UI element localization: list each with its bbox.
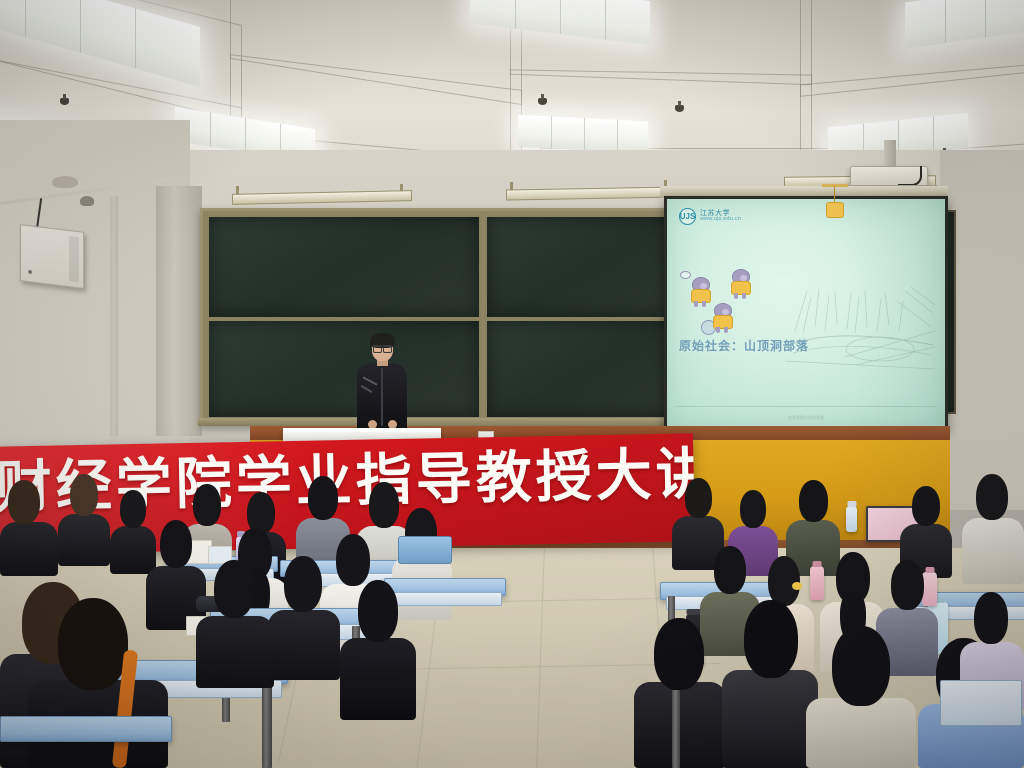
student [806, 626, 916, 768]
ceiling-light [518, 115, 648, 154]
student [962, 474, 1024, 584]
chalk-ledge [198, 418, 704, 426]
cartoon-caveman-2 [729, 269, 751, 299]
glasses-icon [373, 345, 392, 351]
student [722, 600, 818, 768]
blackboard [200, 208, 706, 426]
sprinkler-icon [60, 98, 69, 105]
lecture-hall-photo: ◼ UJS 江苏大学 www.ujs.edu.cn [0, 0, 1024, 768]
wall-pillar [156, 186, 202, 436]
chair-back [398, 536, 452, 564]
student [0, 480, 58, 576]
student [196, 560, 274, 688]
speaker-grill [69, 236, 79, 282]
student [28, 598, 168, 768]
lectern-top-edge [283, 428, 441, 432]
ujs-logo-mark: UJS [679, 208, 696, 225]
blackboard-panel-top-left [207, 215, 481, 319]
projection-screen: UJS 江苏大学 www.ujs.edu.cn [664, 196, 948, 430]
blackboard-panel-bottom-left [207, 319, 481, 419]
desk-shelf [940, 680, 1022, 726]
student [340, 580, 416, 720]
slide-footer-note: 信息管理与信息系统 [667, 415, 945, 421]
sprinkler-icon [675, 105, 684, 112]
university-url: www.ujs.edu.cn [700, 217, 741, 223]
speaker-brand-label: ◼ [28, 269, 32, 276]
wall-pillar [110, 196, 118, 436]
sprinkler-icon [538, 98, 547, 105]
university-logo: UJS 江苏大学 www.ujs.edu.cn [679, 208, 741, 225]
hair-tie [792, 582, 802, 590]
slide-sketch-illustration [785, 261, 935, 381]
student [634, 618, 726, 768]
desk-leg [672, 690, 680, 768]
student [58, 474, 110, 566]
lecturer [352, 336, 412, 432]
dome-camera-icon [52, 176, 78, 188]
slide-title: 原始社会：山顶洞部落 [679, 337, 809, 354]
desk-leg [262, 684, 272, 768]
dome-camera-icon [80, 196, 94, 206]
slide-divider [675, 406, 937, 407]
student [268, 556, 340, 680]
projector-cable [898, 166, 922, 186]
student-desk [0, 716, 172, 742]
water-bottle [846, 506, 857, 532]
cartoon-caveman-1 [689, 277, 711, 307]
hanging-card [822, 186, 848, 220]
wall-speaker: ◼ [20, 224, 84, 289]
projected-slide: UJS 江苏大学 www.ujs.edu.cn [667, 199, 945, 427]
cartoon-caveman-3 [711, 303, 733, 333]
